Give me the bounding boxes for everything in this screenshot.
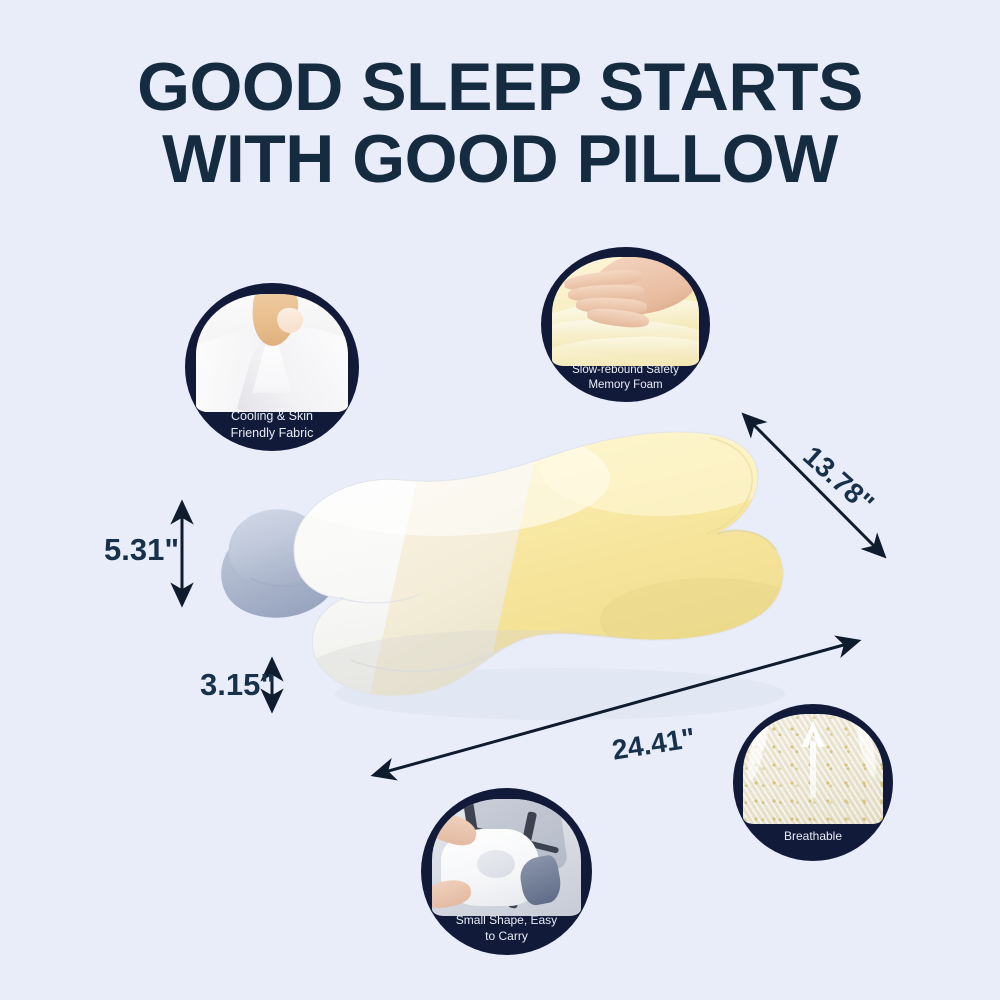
- feature-caption-line-2: Friendly Fabric: [231, 425, 314, 442]
- feature-caption: Small Shape, Easy to Carry: [421, 905, 592, 955]
- product-image-pillow: [190, 408, 880, 748]
- feature-caption-line-1: Slow-rebound Safety: [572, 363, 679, 378]
- feature-caption-line-2: Memory Foam: [588, 378, 662, 393]
- feature-badge-breathable[interactable]: Breathable: [733, 704, 893, 861]
- fabric-pinch-icon: [196, 294, 347, 412]
- page-title: GOOD SLEEP STARTS WITH GOOD PILLOW: [0, 52, 1000, 194]
- dimension-label-height: 5.31": [104, 532, 179, 568]
- feature-caption-line-1: Breathable: [784, 829, 842, 845]
- dimension-label-loft: 3.15": [200, 667, 275, 703]
- airflow-arrow-icon: [806, 721, 820, 798]
- feature-badge-memory-foam[interactable]: Slow-rebound Safety Memory Foam: [541, 247, 710, 402]
- feature-badge-cooling-fabric[interactable]: Cooling & Skin Friendly Fabric: [185, 283, 359, 451]
- hand-pressing-foam-icon: [552, 257, 699, 366]
- feature-caption-line-1: Small Shape, Easy: [456, 913, 557, 929]
- feature-caption-line-1: Cooling & Skin: [231, 408, 313, 425]
- feature-caption: Slow-rebound Safety Memory Foam: [541, 356, 710, 403]
- infographic-canvas: GOOD SLEEP STARTS WITH GOOD PILLOW: [0, 0, 1000, 1000]
- pillow-in-bag-icon: [432, 799, 581, 916]
- title-line-2: WITH GOOD PILLOW: [0, 124, 1000, 194]
- breathable-mesh-icon: [743, 714, 882, 824]
- feature-caption: Breathable: [733, 814, 893, 861]
- title-line-1: GOOD SLEEP STARTS: [0, 52, 1000, 122]
- feature-badge-easy-carry[interactable]: Small Shape, Easy to Carry: [421, 788, 592, 955]
- feature-caption: Cooling & Skin Friendly Fabric: [185, 401, 359, 451]
- feature-caption-line-2: to Carry: [485, 929, 528, 945]
